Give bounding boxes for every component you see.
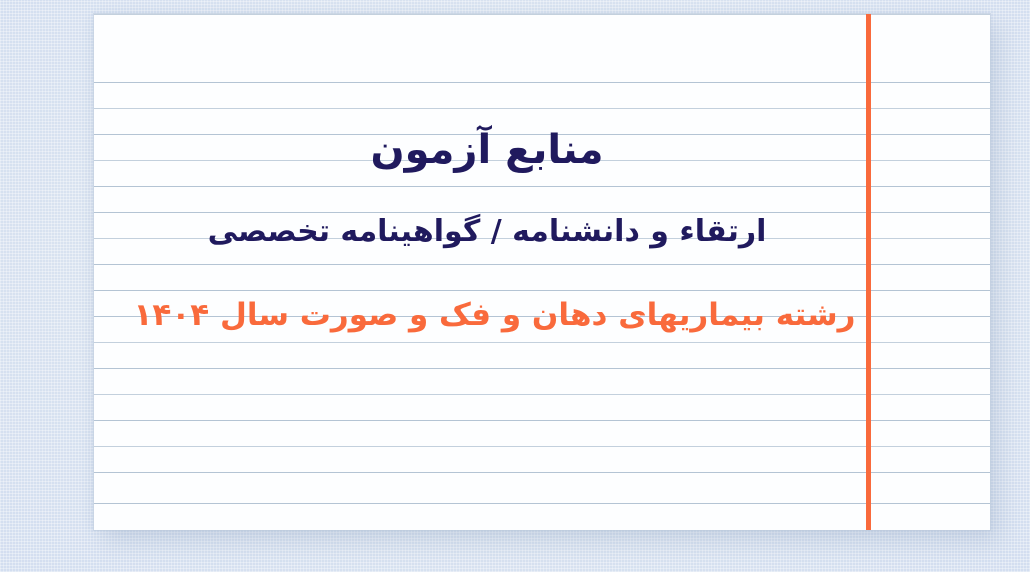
page-subtitle: ارتقاء و دانشنامه / گواهینامه تخصصی [94, 214, 990, 250]
rule-line [94, 446, 990, 447]
rule-line [94, 503, 990, 504]
rule-line [94, 290, 990, 291]
field-and-year-line: رشته بیماریهای دهان و فک و صورت سال ۱۴۰۴ [94, 297, 990, 334]
margin-rule-line [866, 14, 871, 530]
notebook-paper: منابع آزمون ارتقاء و دانشنامه / گواهینام… [94, 14, 990, 530]
rule-line [94, 212, 990, 213]
rule-line [94, 108, 990, 109]
rule-line [94, 82, 990, 83]
rule-line [94, 186, 990, 187]
rule-line [94, 420, 990, 421]
rule-line [94, 14, 990, 15]
rule-line [94, 394, 990, 395]
ruled-lines-group [94, 14, 990, 530]
rule-line [94, 342, 990, 343]
page-title: منابع آزمون [94, 127, 990, 173]
rule-line [94, 368, 990, 369]
slide-canvas: منابع آزمون ارتقاء و دانشنامه / گواهینام… [0, 0, 1030, 572]
rule-line [94, 472, 990, 473]
rule-line [94, 264, 990, 265]
